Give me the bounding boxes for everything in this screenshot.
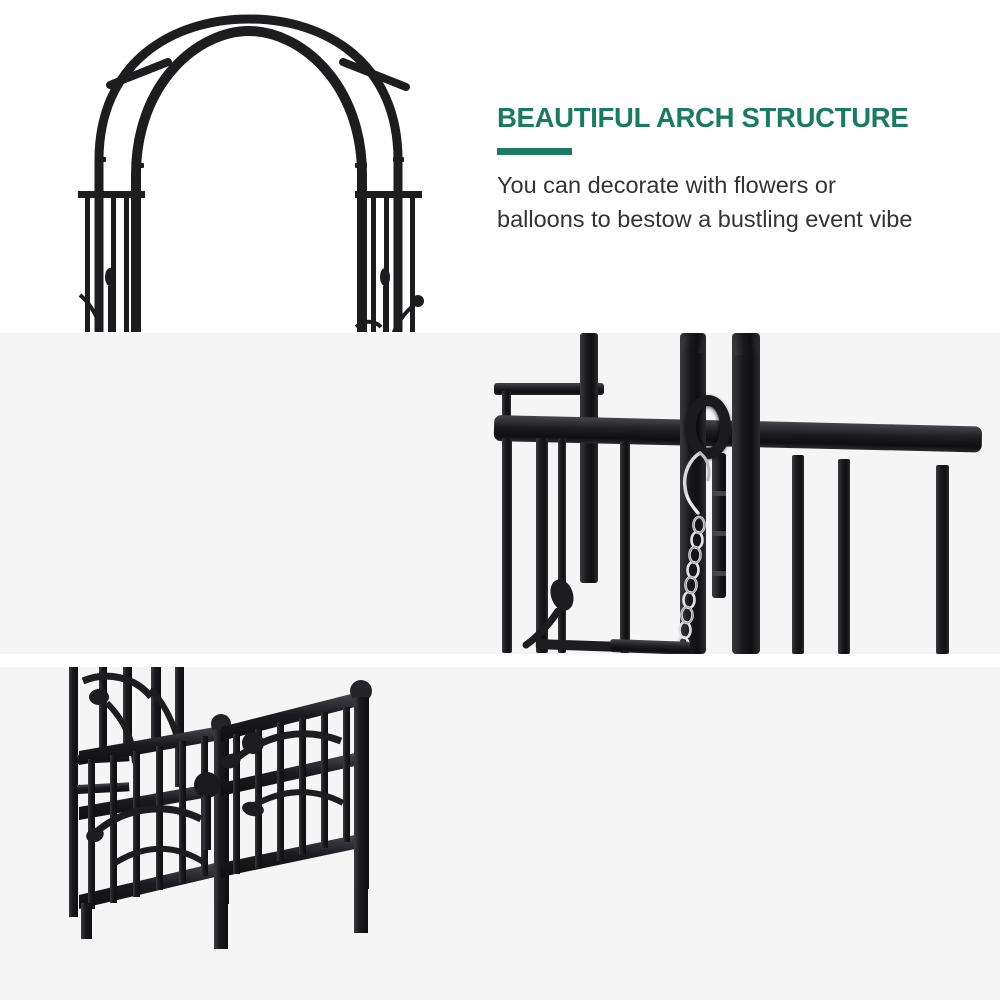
lock-chain-icon	[666, 451, 746, 654]
latch-ring-icon	[685, 395, 731, 459]
feature-heading: BEAUTIFUL ARCH STRUCTURE	[497, 103, 912, 133]
feature-body: You can decorate with flowers or balloon…	[497, 169, 912, 236]
feature-text-arch-structure: BEAUTIFUL ARCH STRUCTURE You can decorat…	[497, 103, 912, 236]
feature-panel-support-plants: PERFECT TO SUPPORT PLANTS You can plant …	[0, 667, 1000, 1000]
feature-panel-lock-design: EXQUISITE LOCK DESIGN The sturdy lock st…	[0, 333, 1000, 654]
garden-arch-line-drawing	[40, 5, 490, 332]
infographic-page: BEAUTIFUL ARCH STRUCTURE You can decorat…	[0, 0, 1000, 1000]
planter-fence-closeup-photo	[55, 667, 495, 1000]
feature-panel-arch-structure: BEAUTIFUL ARCH STRUCTURE You can decorat…	[0, 0, 1000, 332]
gate-lock-closeup-photo	[480, 333, 1000, 654]
heading-divider	[497, 148, 572, 155]
